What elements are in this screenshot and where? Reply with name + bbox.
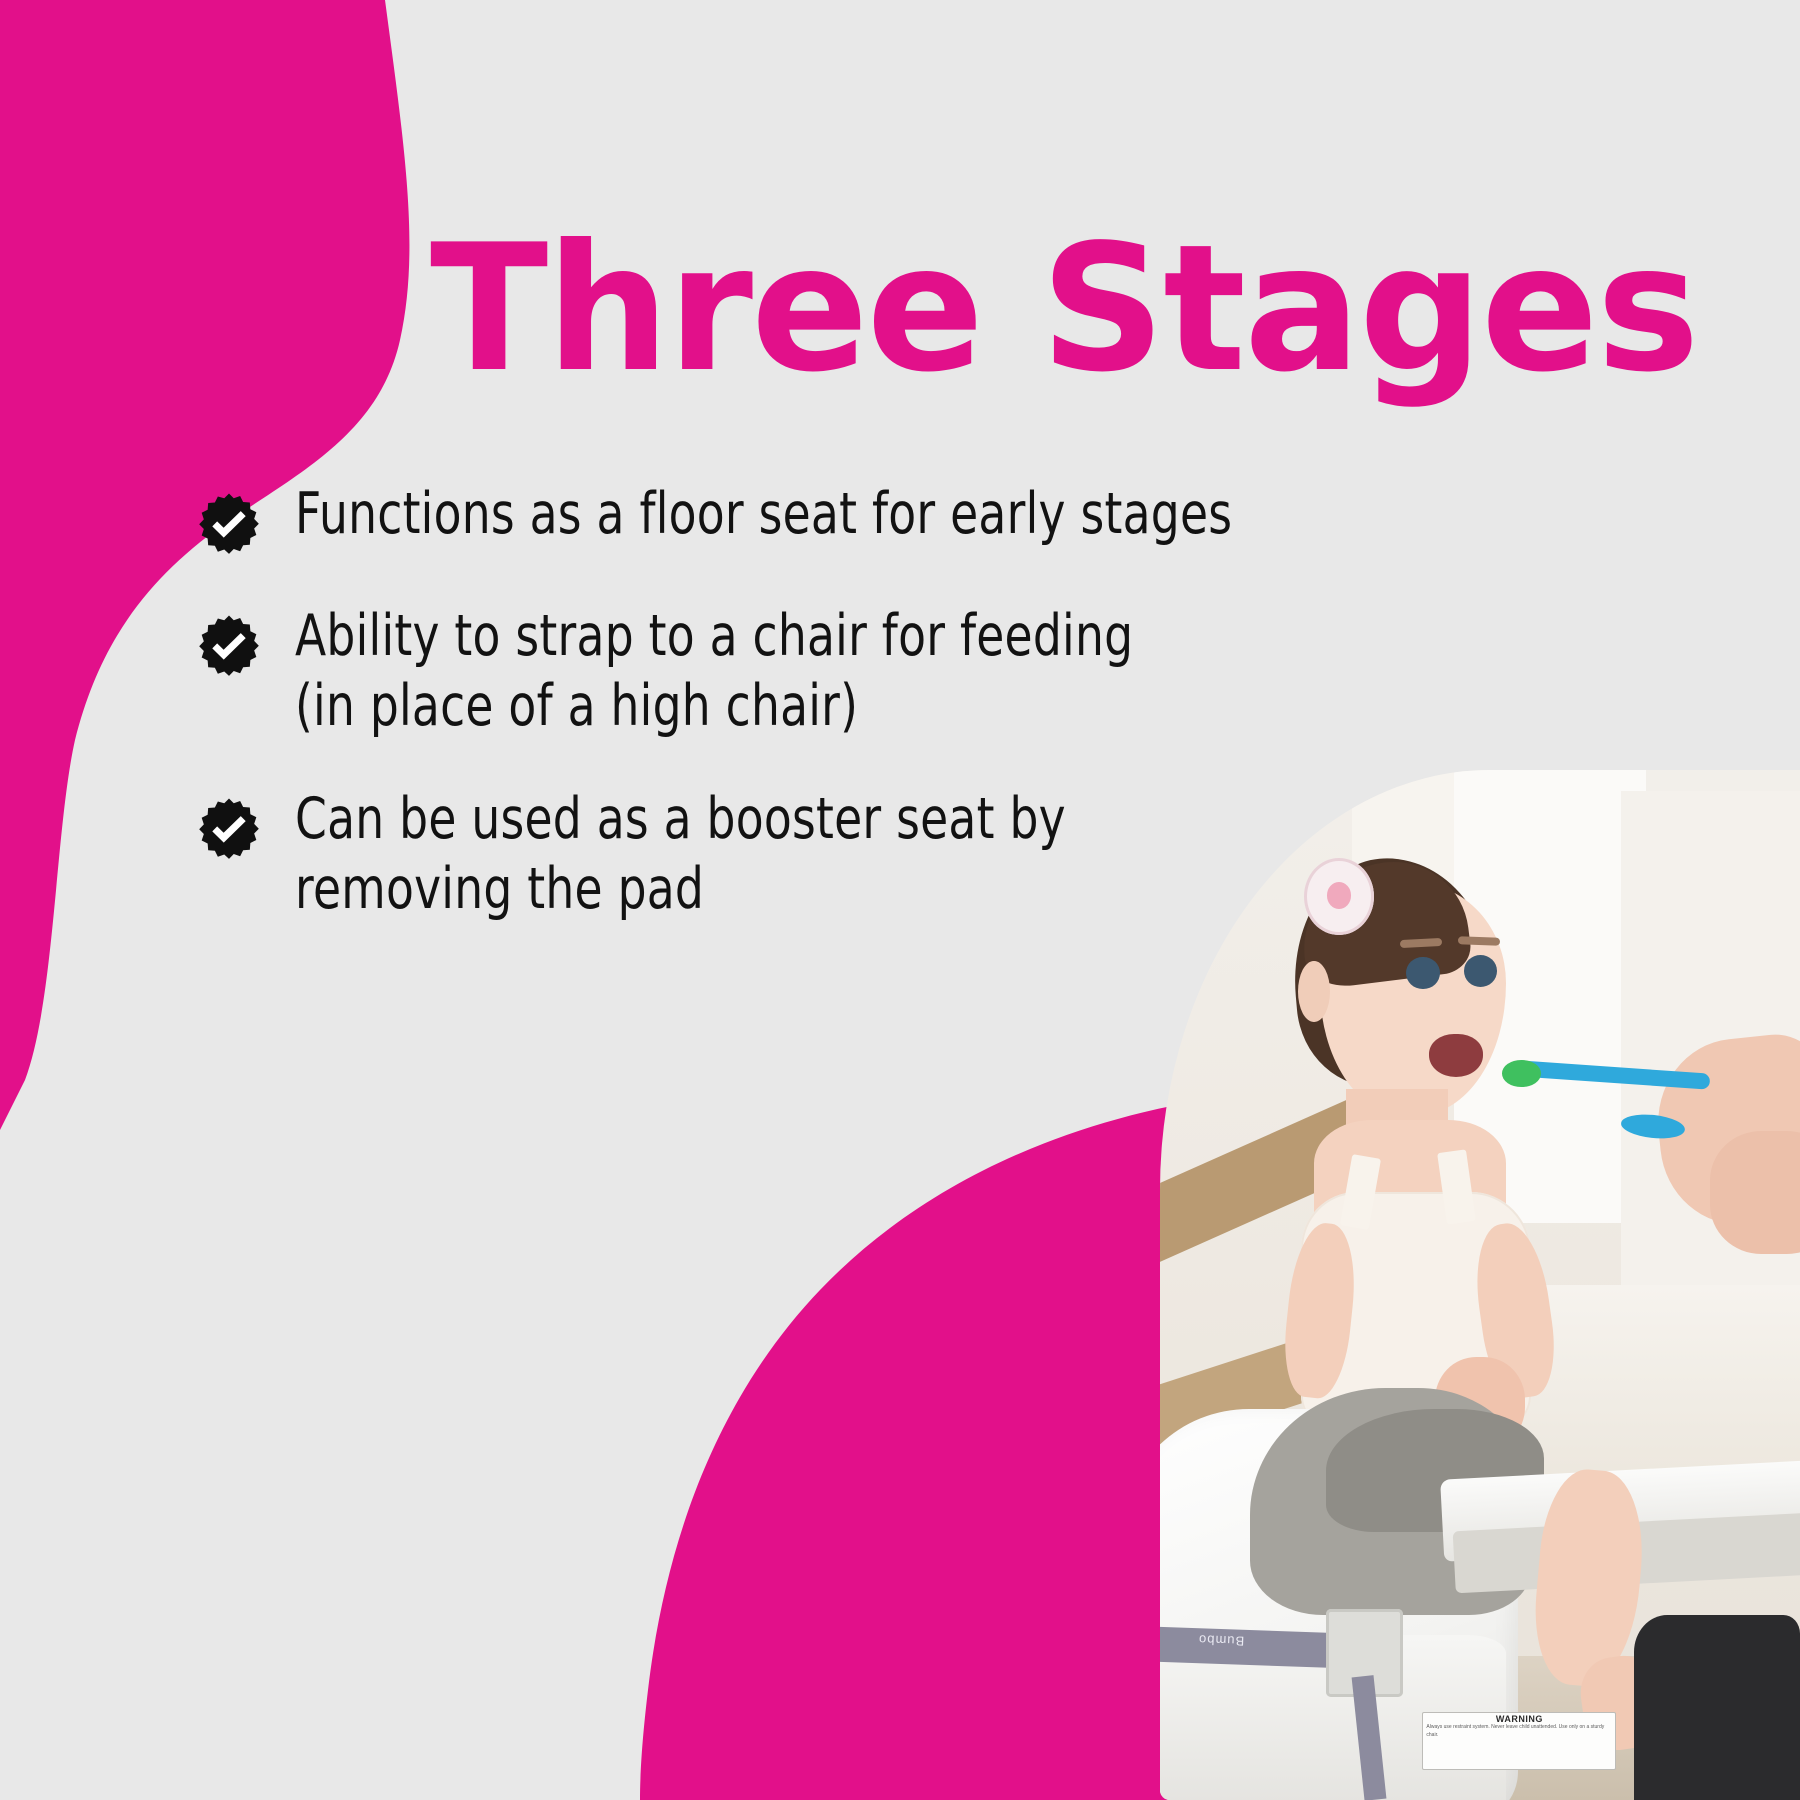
strap-brand-label: Bumbo — [1198, 1632, 1245, 1649]
list-item-text: Functions as a floor seat for early stag… — [295, 480, 1232, 550]
photo-scene: Bumbo WARNING Always use restraint syste… — [1160, 770, 1800, 1800]
list-item: Ability to strap to a chair for feeding … — [196, 602, 1256, 741]
list-item-text: Can be used as a booster seat by removin… — [295, 785, 1066, 924]
baby-mouth — [1429, 1034, 1483, 1077]
baby-ear — [1298, 961, 1330, 1023]
poster-canvas: Three Stages Functions as a floor seat f… — [0, 0, 1800, 1800]
feature-list: Functions as a floor seat for early stag… — [196, 480, 1256, 968]
check-badge-icon — [196, 492, 262, 558]
warning-label-title: WARNING — [1423, 1714, 1615, 1724]
list-item: Functions as a floor seat for early stag… — [196, 480, 1256, 558]
check-badge-icon — [196, 614, 262, 680]
check-badge-icon — [196, 797, 262, 863]
adult-hand-lower — [1710, 1131, 1800, 1255]
warning-label: WARNING Always use restraint system. Nev… — [1422, 1712, 1616, 1770]
baby-eyebrow-right — [1457, 936, 1499, 946]
baby-flower-headband-icon — [1304, 858, 1374, 935]
page-title: Three Stages — [430, 222, 1658, 397]
product-photo: Bumbo WARNING Always use restraint syste… — [1160, 770, 1800, 1800]
list-item-text: Ability to strap to a chair for feeding … — [295, 602, 1133, 741]
photo-foreground-dark — [1634, 1615, 1800, 1800]
feeding-spoon-bowl — [1502, 1060, 1540, 1087]
baby-eye-left — [1406, 957, 1439, 989]
list-item: Can be used as a booster seat by removin… — [196, 785, 1256, 924]
warning-label-body: Always use restraint system. Never leave… — [1423, 1724, 1615, 1739]
